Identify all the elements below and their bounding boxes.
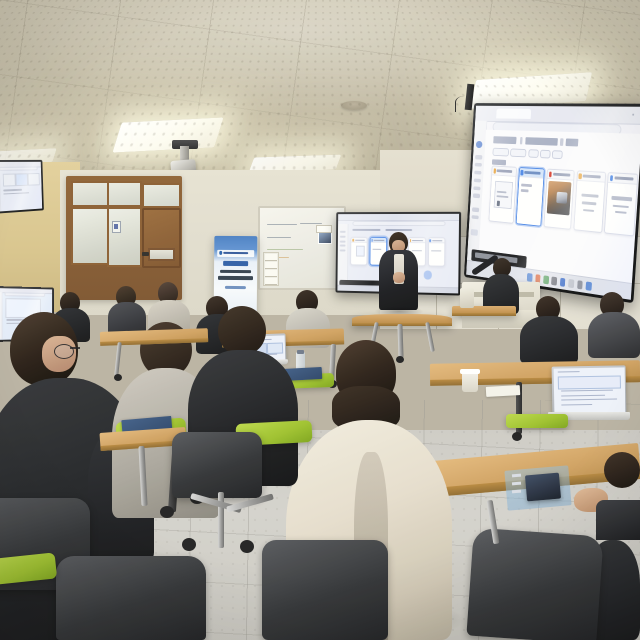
card-5-icon xyxy=(610,175,613,181)
wall-pocket-chart xyxy=(263,252,279,286)
card-3[interactable] xyxy=(544,169,575,230)
coffee-cup xyxy=(462,372,478,392)
taskbar-icon-1[interactable] xyxy=(527,273,533,282)
taskbar-icon-8[interactable] xyxy=(586,281,592,290)
card-4[interactable] xyxy=(573,171,606,233)
eyeglasses-temple xyxy=(70,347,80,349)
card-5[interactable] xyxy=(604,172,638,236)
attendee-body xyxy=(520,316,578,364)
breadcrumb xyxy=(493,136,587,147)
caster xyxy=(396,356,404,363)
sidebar-item-8[interactable] xyxy=(471,215,478,219)
caster xyxy=(160,506,174,518)
taskbar-icon-5[interactable] xyxy=(560,278,566,287)
card-3-icon xyxy=(549,171,552,177)
attendee-head xyxy=(604,452,640,488)
wall-mounted-display[interactable] xyxy=(464,103,640,303)
classroom-photo xyxy=(0,0,640,640)
toolbar-button-3[interactable] xyxy=(528,149,539,158)
ceiling-speaker xyxy=(341,101,367,110)
bottle-cap xyxy=(297,350,304,354)
chair-tablet-arm[interactable] xyxy=(506,414,568,428)
chair[interactable] xyxy=(56,556,206,640)
desk-leg xyxy=(114,342,122,376)
card-1-icon xyxy=(493,168,496,173)
taskbar-icon-4[interactable] xyxy=(551,276,557,285)
desk xyxy=(100,328,208,346)
taskbar-icon-3[interactable] xyxy=(543,275,549,284)
tablet-device[interactable] xyxy=(525,473,561,502)
banner-badge xyxy=(225,286,247,290)
sidebar-item-6[interactable] xyxy=(473,194,480,198)
attendee-body xyxy=(588,312,640,358)
card-4-icon xyxy=(579,173,582,179)
chair[interactable] xyxy=(262,540,388,640)
card-3-thumbnail xyxy=(547,181,572,216)
card-1[interactable] xyxy=(489,166,517,224)
avatar[interactable] xyxy=(476,140,483,147)
caster xyxy=(512,432,522,441)
sidebar-item-2[interactable] xyxy=(474,163,481,167)
sidebar-item-4[interactable] xyxy=(474,178,481,182)
card-2[interactable] xyxy=(516,167,546,226)
attendee-sleeve xyxy=(596,500,640,540)
chair[interactable] xyxy=(172,432,262,498)
sidebar-item-7[interactable] xyxy=(472,207,479,211)
toolbar-button-1[interactable] xyxy=(493,148,509,157)
presenter-hands xyxy=(393,272,405,283)
taskbar-icon-6[interactable] xyxy=(568,279,574,288)
left-wall-monitor[interactable] xyxy=(0,160,44,214)
paper-handout xyxy=(486,385,520,397)
toolbar xyxy=(493,148,590,159)
sidebar-item-3[interactable] xyxy=(474,171,481,175)
caster xyxy=(182,538,196,551)
toolbar-button-5[interactable] xyxy=(552,150,563,159)
ceiling-light-left xyxy=(112,117,223,152)
caster xyxy=(114,374,122,381)
whiteboard[interactable] xyxy=(258,206,346,290)
cup-lid xyxy=(460,369,480,374)
display-screen-content xyxy=(466,106,640,300)
table-leg xyxy=(397,324,403,358)
laptop[interactable] xyxy=(552,365,627,414)
toolbar-button-2[interactable] xyxy=(510,148,527,157)
sidebar-item-1[interactable] xyxy=(475,155,482,159)
browser-tab[interactable] xyxy=(496,109,531,119)
whiteboard-photo xyxy=(318,232,332,244)
sidebar-item-9[interactable] xyxy=(470,229,477,236)
sidebar-item-5[interactable] xyxy=(473,186,480,190)
banner-logo-icon xyxy=(219,251,222,255)
attendee-head xyxy=(218,306,266,356)
banner-headline xyxy=(224,261,248,266)
equipment-box xyxy=(460,288,474,308)
door-notice xyxy=(112,221,121,233)
card-2-icon xyxy=(520,170,523,175)
taskbar-icon-7[interactable] xyxy=(577,280,583,289)
section-title xyxy=(492,160,506,165)
toolbar-button-4[interactable] xyxy=(540,150,551,159)
vr-headset-photo xyxy=(556,192,567,204)
chair[interactable] xyxy=(466,528,603,640)
caster xyxy=(240,540,254,553)
